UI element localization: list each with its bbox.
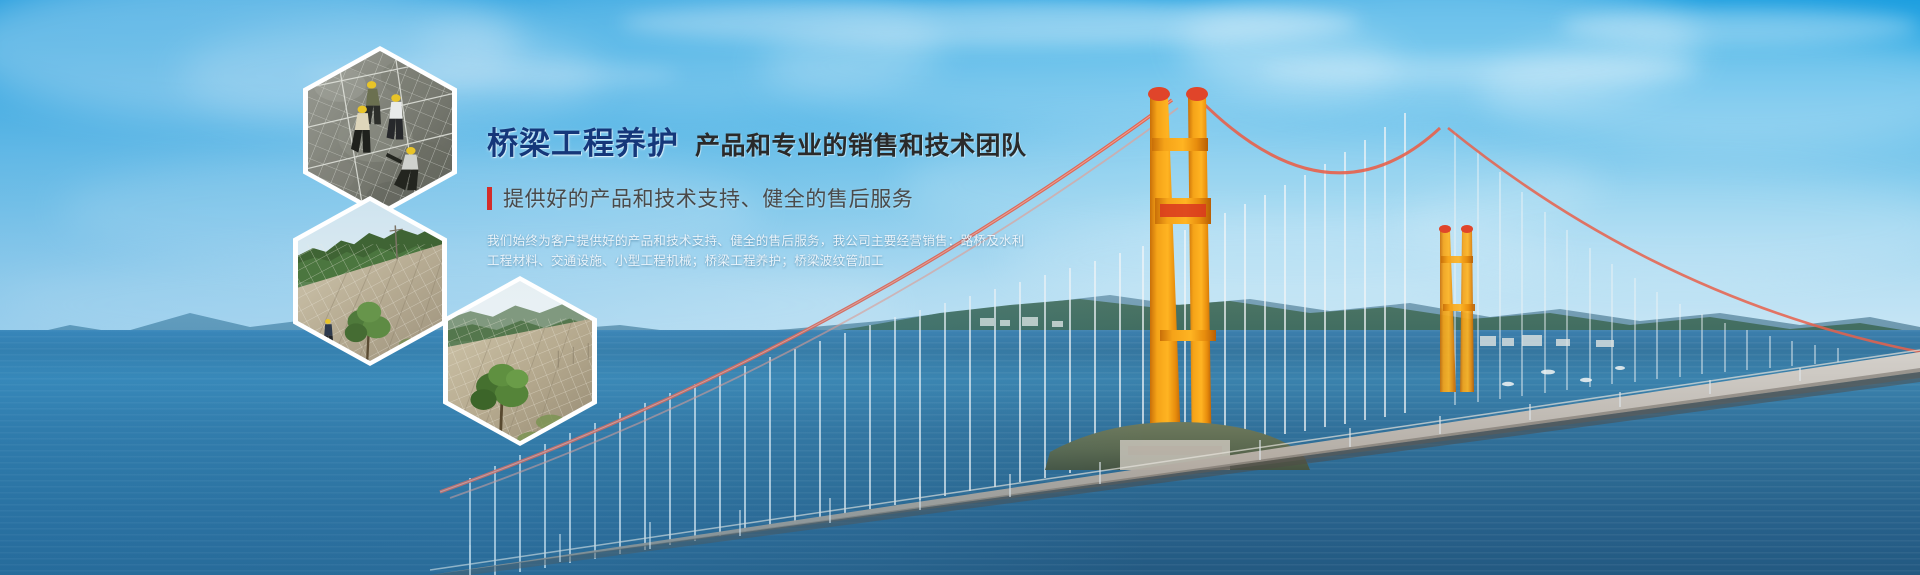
- description-line-1: 我们始终为客户提供好的产品和技术支持、健全的售后服务，我公司主要经营销售：路桥及…: [487, 231, 1127, 251]
- hero-banner: 桥梁工程养护 产品和专业的销售和技术团队 提供好的产品和技术支持、健全的售后服务…: [0, 0, 1920, 575]
- description-paragraph: 我们始终为客户提供好的产品和技术支持、健全的售后服务，我公司主要经营销售：路桥及…: [487, 231, 1127, 271]
- accent-bar: [487, 187, 492, 210]
- slope-mesh-roadside-image: [448, 281, 592, 441]
- headline-primary: 桥梁工程养护: [487, 118, 679, 163]
- banner-copy: 桥梁工程养护 产品和专业的销售和技术团队 提供好的产品和技术支持、健全的售后服务…: [487, 118, 1127, 271]
- slope-mesh-workers-image: [308, 51, 452, 211]
- subtitle-row: 提供好的产品和技术支持、健全的售后服务: [487, 183, 1127, 213]
- headline-secondary: 产品和专业的销售和技术团队: [695, 126, 1027, 162]
- description-line-2: 工程材料、交通设施、小型工程机械；桥梁工程养护；桥梁波纹管加工: [487, 251, 1127, 271]
- suspension-bridge: [0, 0, 1920, 575]
- subtitle: 提供好的产品和技术支持、健全的售后服务: [503, 183, 913, 213]
- headline: 桥梁工程养护 产品和专业的销售和技术团队: [487, 118, 1127, 163]
- slope-mesh-hillside-image: [298, 201, 442, 361]
